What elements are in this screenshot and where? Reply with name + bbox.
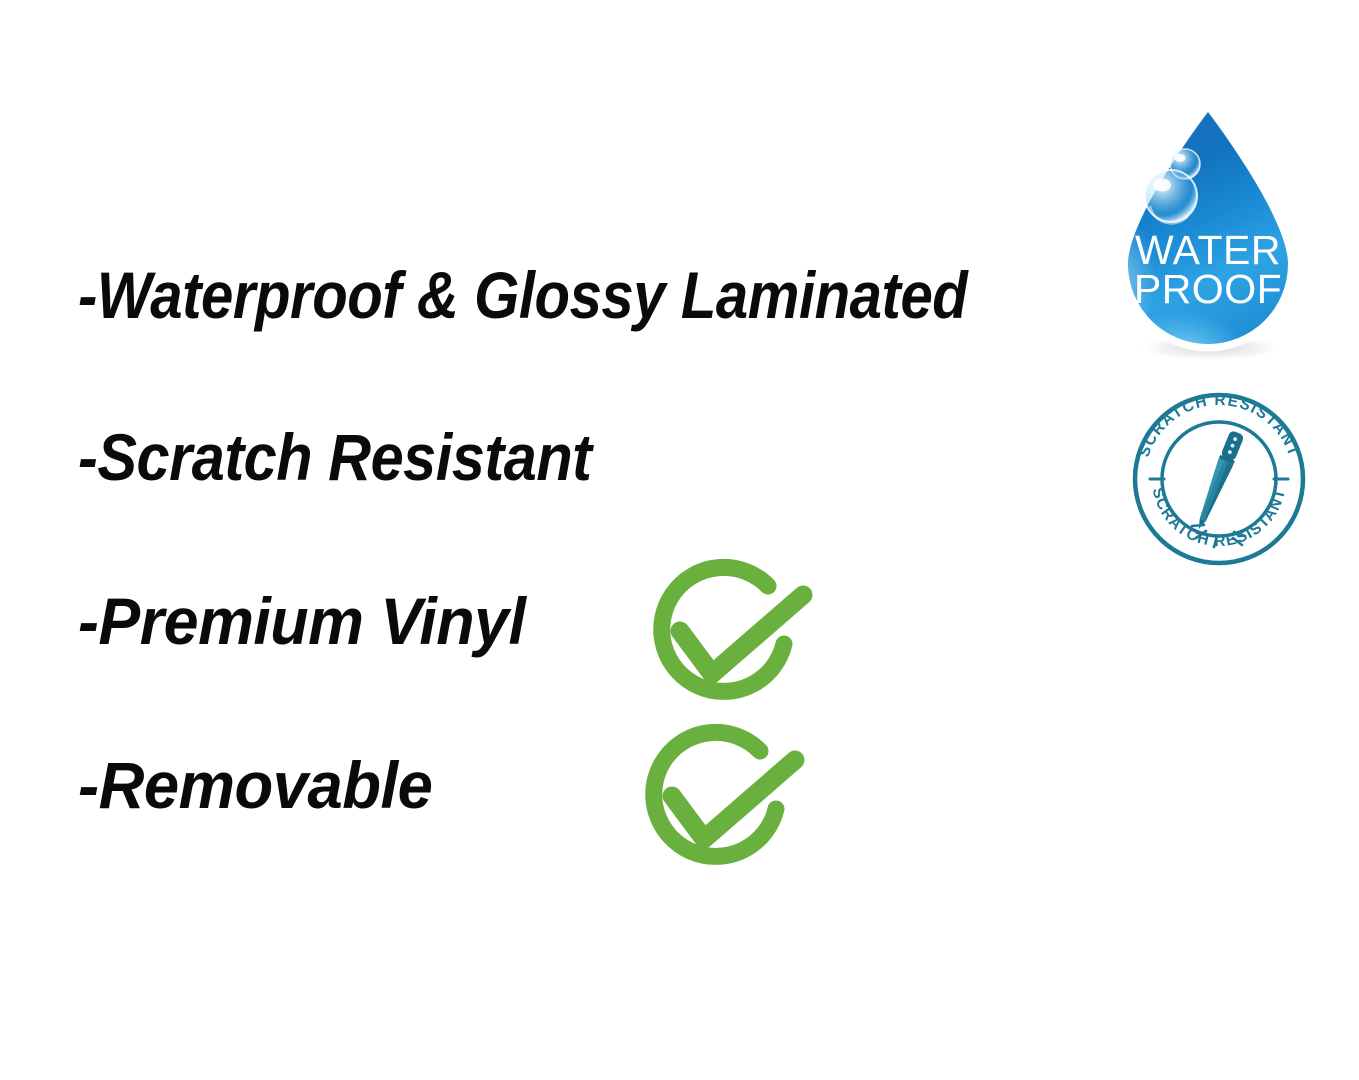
scratch-resistant-badge: SCRATCH RESISTANT SCRATCH RESISTANT <box>1126 386 1312 572</box>
knife-icon <box>1191 430 1245 532</box>
check-circle-icon-removable <box>632 718 822 888</box>
check-circle-icon-premium-vinyl <box>640 553 830 723</box>
feature-dash: - <box>78 424 97 490</box>
feature-dash: - <box>78 588 98 654</box>
feature-dash: - <box>78 262 97 328</box>
feature-item-waterproof: -Waterproof & Glossy Laminated <box>78 262 967 328</box>
feature-item-premium-vinyl: -Premium Vinyl <box>78 588 525 654</box>
stamp-top-text: SCRATCH RESISTANT <box>1136 392 1303 459</box>
bubble-large-icon <box>1145 170 1197 223</box>
feature-item-scratch-resistant: -Scratch Resistant <box>78 424 591 490</box>
feature-label: Scratch Resistant <box>97 424 591 490</box>
feature-label: Premium Vinyl <box>98 588 525 654</box>
waterproof-badge: WATER PROOF <box>1108 104 1308 362</box>
feature-label: Removable <box>99 752 433 818</box>
feature-dash: - <box>78 752 99 818</box>
waterproof-line2: PROOF <box>1134 266 1282 312</box>
product-feature-graphic: -Waterproof & Glossy Laminated -Scratch … <box>0 0 1359 1080</box>
feature-item-removable: -Removable <box>78 752 432 818</box>
stamp-bottom-text: SCRATCH RESISTANT <box>1149 486 1290 550</box>
feature-label: Waterproof & Glossy Laminated <box>97 262 967 328</box>
